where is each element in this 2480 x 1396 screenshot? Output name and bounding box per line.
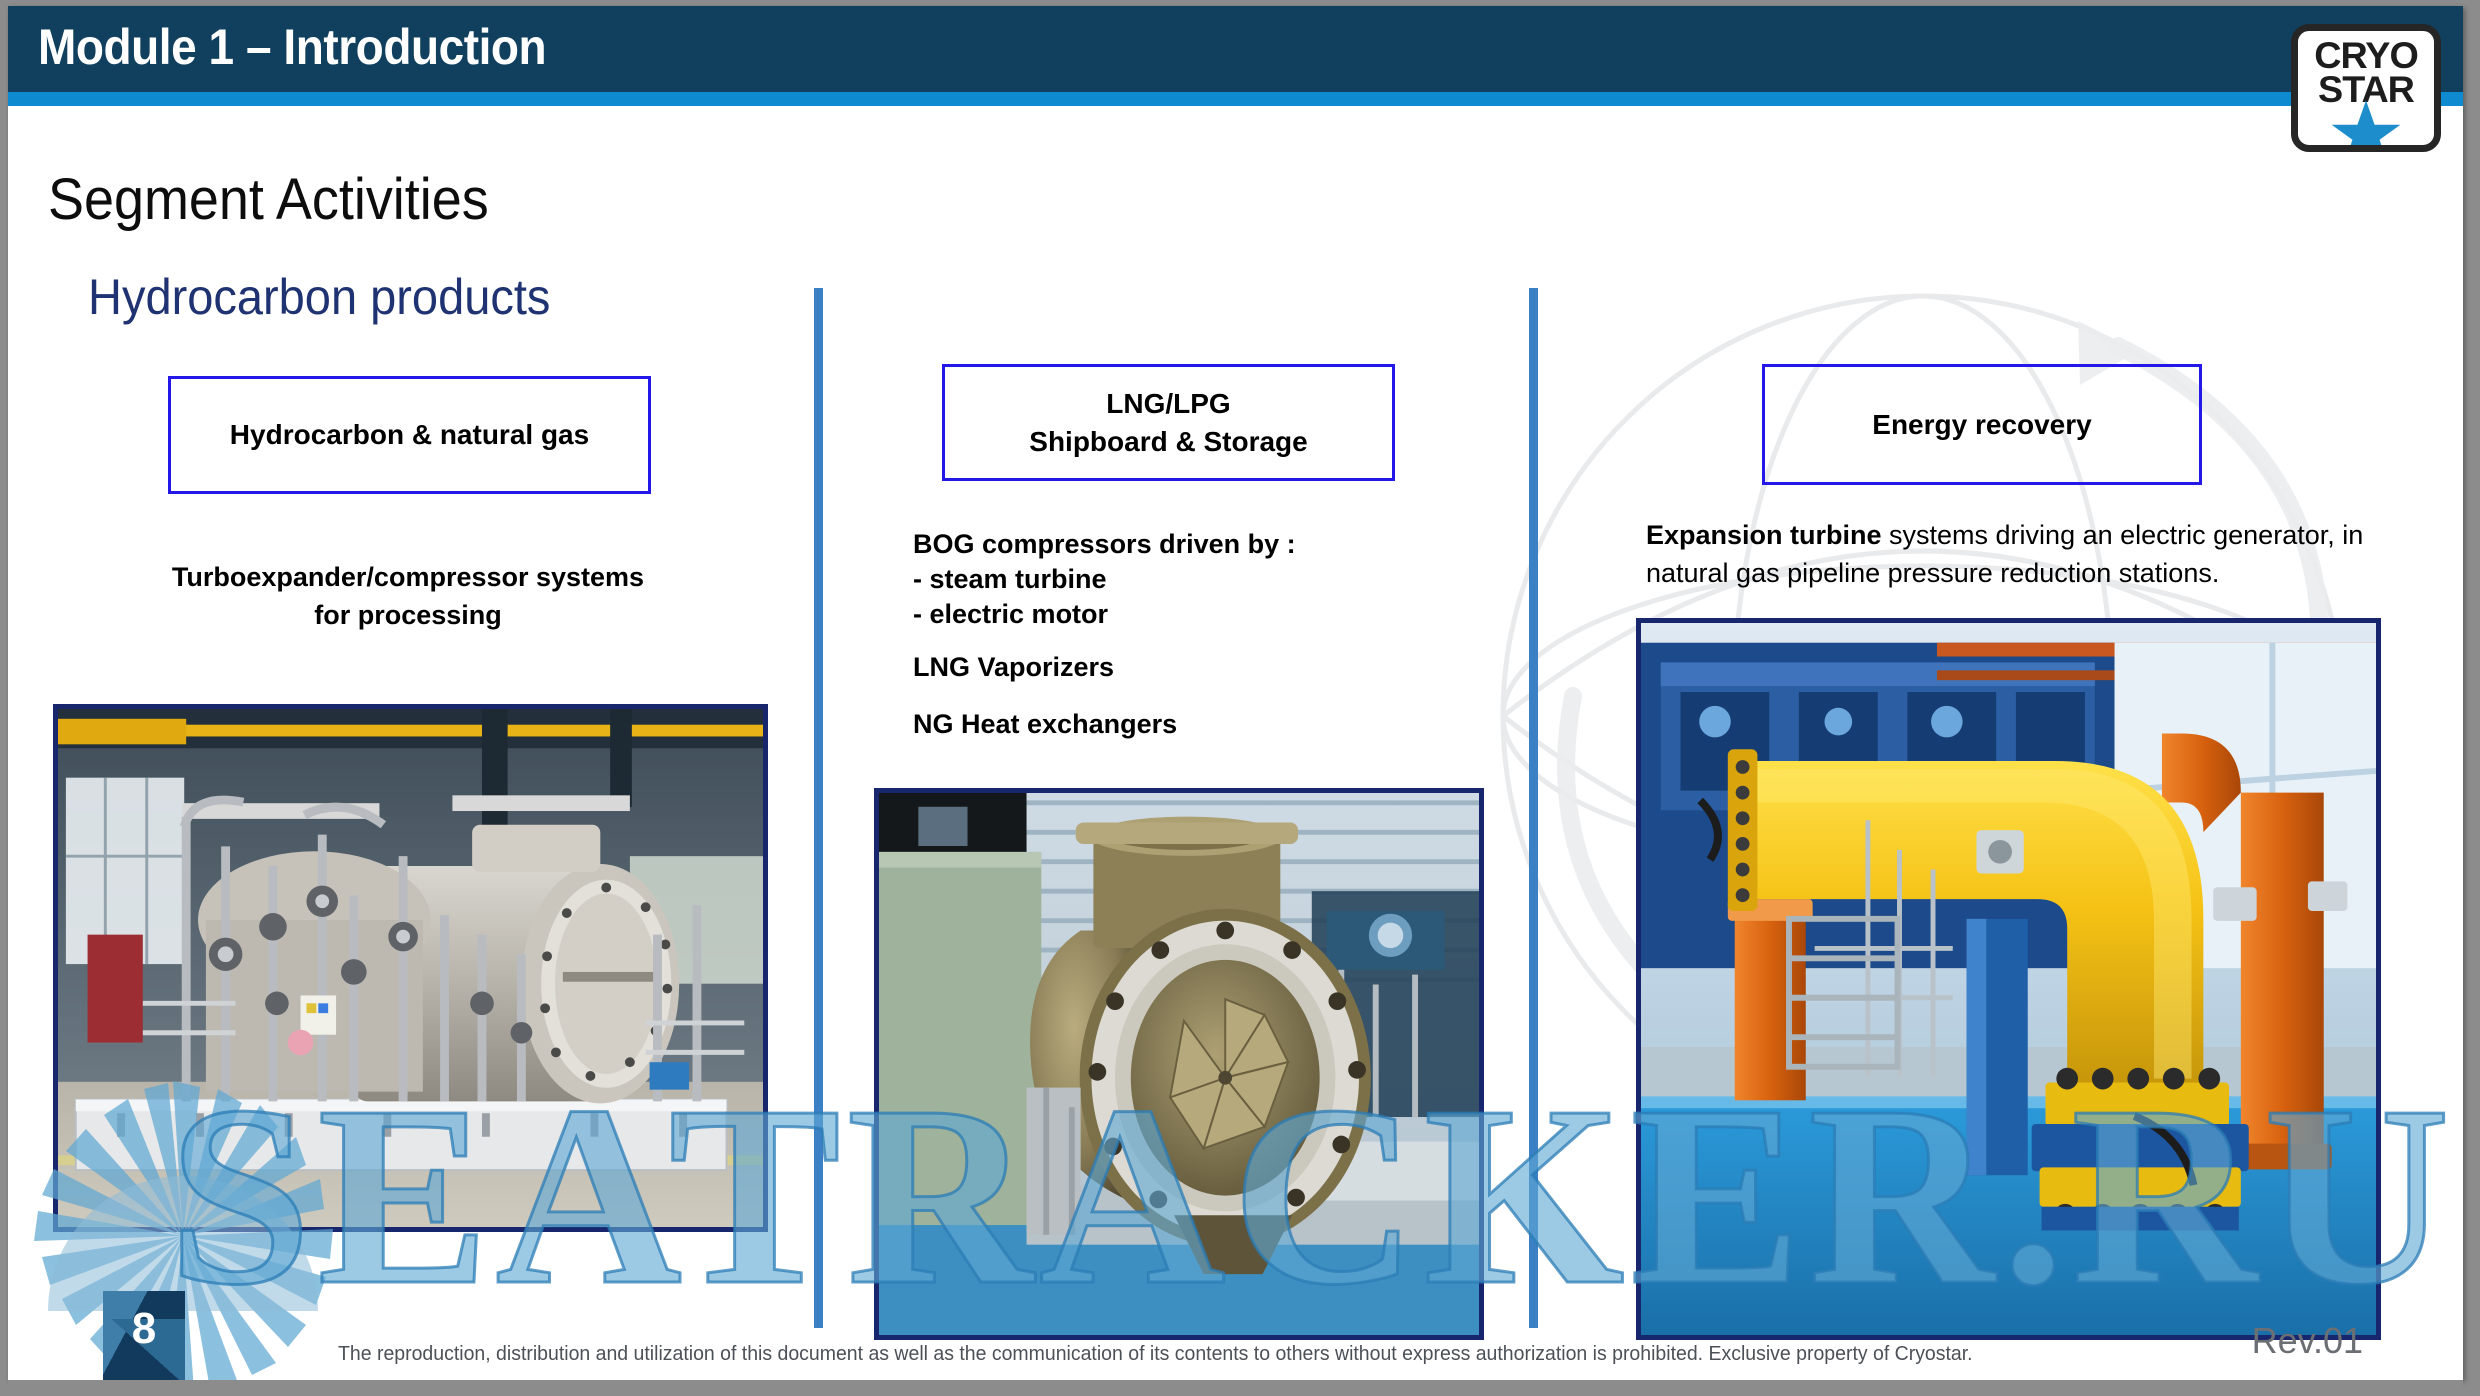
- page-number: 8: [103, 1304, 185, 1354]
- column-2-body-heading: BOG compressors driven by :: [913, 531, 1493, 558]
- column-2-body-extra-1: LNG Vaporizers: [913, 654, 1493, 681]
- column-3-title-box: Energy recovery: [1762, 364, 2202, 485]
- column-divider-2: [1529, 288, 1538, 1328]
- column-1-body: Turboexpander/compressor systems for pro…: [158, 558, 658, 635]
- bottom-frame-edge: [8, 1380, 2463, 1396]
- slide-canvas: Module 1 – Introduction CRYO STAR Segmen…: [8, 6, 2463, 1380]
- column-3-photo: [1636, 618, 2381, 1340]
- cryostar-logo: CRYO STAR: [2291, 24, 2441, 152]
- column-divider-1: [814, 288, 823, 1328]
- column-2-title-line-2: Shipboard & Storage: [1029, 423, 1307, 461]
- column-1-title-box: Hydrocarbon & natural gas: [168, 376, 651, 494]
- column-2-title-line-1: LNG/LPG: [1029, 385, 1307, 423]
- column-2-body-item-1: - steam turbine: [913, 566, 1493, 593]
- column-1-title-text: Hydrocarbon & natural gas: [230, 416, 589, 454]
- module-title: Module 1 – Introduction: [38, 18, 546, 76]
- section-title: Hydrocarbon products: [88, 268, 550, 326]
- star-icon: [2330, 99, 2402, 152]
- page-title: Segment Activities: [48, 166, 489, 233]
- column-2-body: BOG compressors driven by : - steam turb…: [913, 531, 1493, 742]
- column-2-body-extra-2: NG Heat exchangers: [913, 711, 1493, 738]
- footer-disclaimer: The reproduction, distribution and utili…: [338, 1342, 2029, 1366]
- column-2-photo: [874, 788, 1484, 1340]
- page-number-badge: 8: [103, 1291, 185, 1380]
- revision-label: Rev.01: [2252, 1320, 2363, 1362]
- column-2-body-item-2: - electric motor: [913, 601, 1493, 628]
- column-2-title-box: LNG/LPG Shipboard & Storage: [942, 364, 1395, 481]
- column-3-body: Expansion turbine systems driving an ele…: [1646, 516, 2436, 593]
- header-accent-stripe: [8, 92, 2463, 106]
- screenshot-frame: Module 1 – Introduction CRYO STAR Segmen…: [0, 0, 2480, 1396]
- column-3-title-text: Energy recovery: [1872, 406, 2091, 444]
- column-1-photo: [53, 704, 768, 1232]
- column-3-body-bold: Expansion turbine: [1646, 520, 1882, 550]
